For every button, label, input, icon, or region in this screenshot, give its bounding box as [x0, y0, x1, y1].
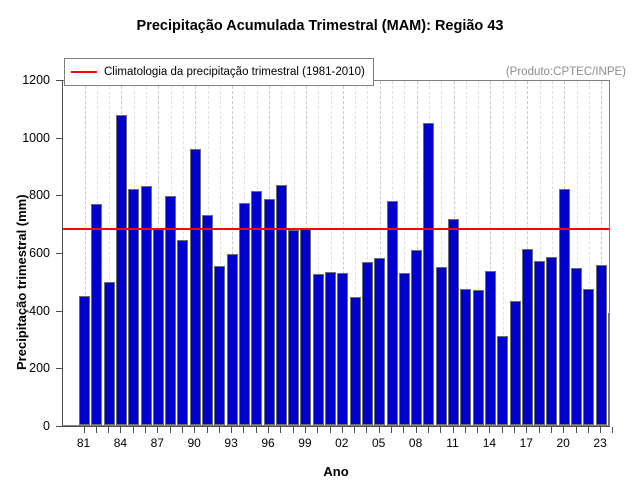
x-axis-tick: [243, 427, 244, 433]
y-axis-tick: [56, 138, 62, 139]
x-axis-tick: [133, 427, 134, 433]
y-axis-tick-label: 400: [0, 304, 50, 318]
chart-root: Precipitação Acumulada Trimestral (MAM):…: [0, 0, 640, 500]
y-axis-tick: [56, 195, 62, 196]
x-axis-tick: [280, 427, 281, 433]
x-axis-tick: [194, 427, 195, 433]
x-axis-tick-label: 96: [261, 436, 274, 450]
y-axis-tick-label: 1200: [0, 73, 50, 87]
x-axis-tick-label: 11: [446, 436, 458, 450]
x-axis-tick-label: 23: [593, 436, 606, 450]
legend-line-swatch: [71, 71, 97, 73]
x-axis-tick: [440, 427, 441, 433]
x-axis-tick: [305, 427, 306, 433]
climatology-reference-line: [63, 228, 609, 230]
x-axis-tick-label: 99: [298, 436, 311, 450]
x-axis-tick: [502, 427, 503, 433]
legend-label: Climatologia da precipitação trimestral …: [104, 66, 365, 78]
x-axis-tick: [453, 427, 454, 433]
x-axis-tick: [563, 427, 564, 433]
x-axis-tick: [120, 427, 121, 433]
x-axis-tick: [207, 427, 208, 433]
y-axis-tick-label: 200: [0, 361, 50, 375]
x-axis-tick: [219, 427, 220, 433]
y-axis-tick: [56, 368, 62, 369]
x-axis-tick: [96, 427, 97, 433]
y-axis-tick: [56, 311, 62, 312]
x-axis-tick: [231, 427, 232, 433]
x-axis-tick: [514, 427, 515, 433]
x-axis-tick-label: 87: [151, 436, 164, 450]
x-axis-tick: [600, 427, 601, 433]
x-axis-tick-label: 84: [114, 436, 127, 450]
x-axis-tick: [403, 427, 404, 433]
x-axis-tick: [84, 427, 85, 433]
x-axis-tick: [145, 427, 146, 433]
x-axis-tick: [170, 427, 171, 433]
x-axis-tick: [342, 427, 343, 433]
x-axis-tick: [366, 427, 367, 433]
x-axis-tick-label: 20: [557, 436, 570, 450]
x-axis-tick-label: 08: [409, 436, 422, 450]
y-axis-tick-label: 0: [0, 419, 50, 433]
x-axis-tick: [465, 427, 466, 433]
legend: Climatologia da precipitação trimestral …: [64, 58, 374, 86]
x-axis-tick: [317, 427, 318, 433]
y-axis-tick: [56, 426, 62, 427]
x-axis-tick: [379, 427, 380, 433]
x-axis-tick: [539, 427, 540, 433]
x-axis-title: Ano: [62, 464, 610, 479]
x-axis-tick: [588, 427, 589, 433]
x-axis-tick: [256, 427, 257, 433]
x-axis-tick: [354, 427, 355, 433]
x-axis-tick: [330, 427, 331, 433]
x-axis-tick: [182, 427, 183, 433]
x-axis-tick: [489, 427, 490, 433]
x-axis-tick-label: 14: [483, 436, 496, 450]
x-axis-tick-label: 17: [520, 436, 533, 450]
x-axis-tick: [551, 427, 552, 433]
y-axis-line: [62, 80, 63, 426]
x-axis-tick: [416, 427, 417, 433]
y-axis-tick: [56, 253, 62, 254]
y-axis-tick-label: 1000: [0, 131, 50, 145]
reference-line-layer: [63, 81, 609, 425]
x-axis-tick: [268, 427, 269, 433]
chart-title: Precipitação Acumulada Trimestral (MAM):…: [0, 18, 640, 34]
y-axis-tick: [56, 80, 62, 81]
x-axis-tick-label: 05: [372, 436, 385, 450]
x-axis-tick-label: 90: [188, 436, 201, 450]
x-axis-tick: [428, 427, 429, 433]
x-axis-tick: [576, 427, 577, 433]
x-axis-tick: [526, 427, 527, 433]
x-axis-tick-label: 93: [224, 436, 237, 450]
y-axis-title: Precipitação trimestral (mm): [14, 194, 29, 370]
plot-area: [62, 80, 610, 426]
x-axis-tick-label: 81: [77, 436, 90, 450]
product-credit: (Produto:CPTEC/INPE): [506, 66, 626, 78]
x-axis-tick: [477, 427, 478, 433]
x-axis-tick: [293, 427, 294, 433]
x-axis-tick: [108, 427, 109, 433]
x-axis-tick: [157, 427, 158, 433]
x-axis-tick: [391, 427, 392, 433]
x-axis-tick: [612, 427, 613, 433]
y-axis-tick-label: 600: [0, 246, 50, 260]
y-axis-tick-label: 800: [0, 188, 50, 202]
x-axis-tick-label: 02: [335, 436, 348, 450]
